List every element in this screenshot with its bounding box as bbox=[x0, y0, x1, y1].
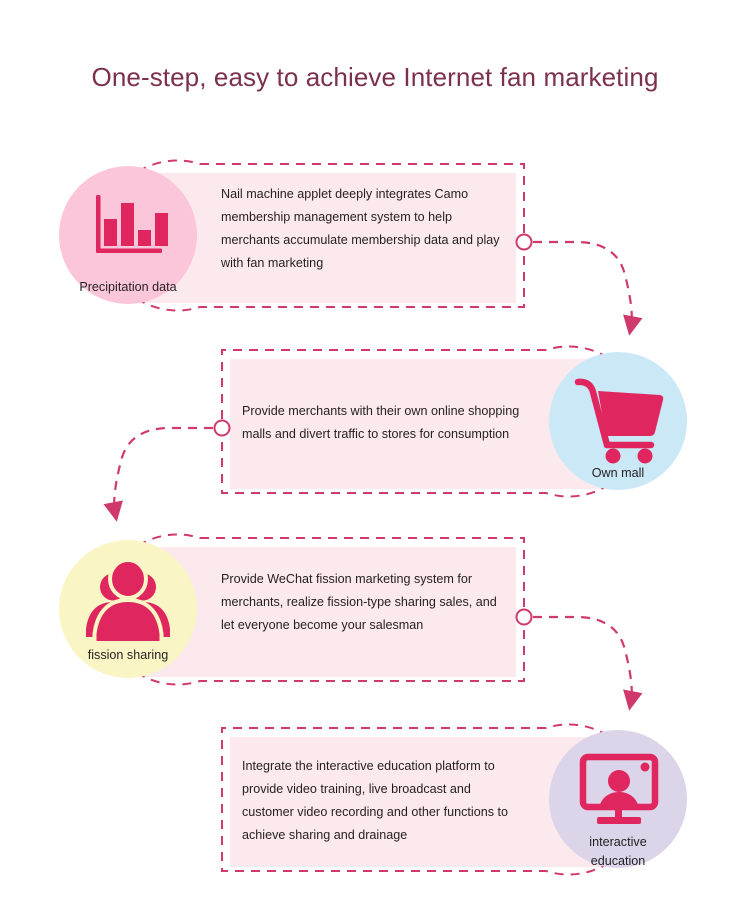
infographic-canvas: One-step, easy to achieve Internet fan m… bbox=[0, 0, 750, 900]
desc-line: achieve sharing and drainage bbox=[242, 824, 542, 847]
desc-line: customer video recording and other funct… bbox=[242, 801, 542, 824]
label-line: education bbox=[543, 852, 693, 871]
step-label-precipitation-data: Precipitation data bbox=[53, 278, 203, 297]
step-label-own-mall: Own mall bbox=[543, 464, 693, 483]
step-label-interactive-education: interactive education bbox=[543, 833, 693, 871]
step-label-fission-sharing: fission sharing bbox=[53, 646, 203, 665]
desc-line: let everyone become your salesman bbox=[221, 614, 521, 637]
connector-3-to-4 bbox=[517, 610, 632, 702]
step-description-2: Provide merchants with their own online … bbox=[242, 400, 542, 446]
desc-line: Integrate the interactive education plat… bbox=[242, 755, 542, 778]
desc-line: membership management system to help bbox=[221, 206, 521, 229]
desc-line: with fan marketing bbox=[221, 252, 521, 275]
desc-line: provide video training, live broadcast a… bbox=[242, 778, 542, 801]
desc-line: Provide merchants with their own online … bbox=[242, 400, 542, 423]
step-description-3: Provide WeChat fission marketing system … bbox=[221, 568, 521, 637]
step-description-1: Nail machine applet deeply integrates Ca… bbox=[221, 183, 521, 275]
desc-line: merchants accumulate membership data and… bbox=[221, 229, 521, 252]
step-description-4: Integrate the interactive education plat… bbox=[242, 755, 542, 847]
desc-line: merchants, realize fission-type sharing … bbox=[221, 591, 521, 614]
desc-line: Provide WeChat fission marketing system … bbox=[221, 568, 521, 591]
connector-2-to-3 bbox=[114, 421, 229, 513]
connector-1-to-2 bbox=[517, 235, 632, 327]
label-line: interactive bbox=[543, 833, 693, 852]
desc-line: Nail machine applet deeply integrates Ca… bbox=[221, 183, 521, 206]
desc-line: malls and divert traffic to stores for c… bbox=[242, 423, 542, 446]
connector-node-2 bbox=[215, 421, 230, 436]
